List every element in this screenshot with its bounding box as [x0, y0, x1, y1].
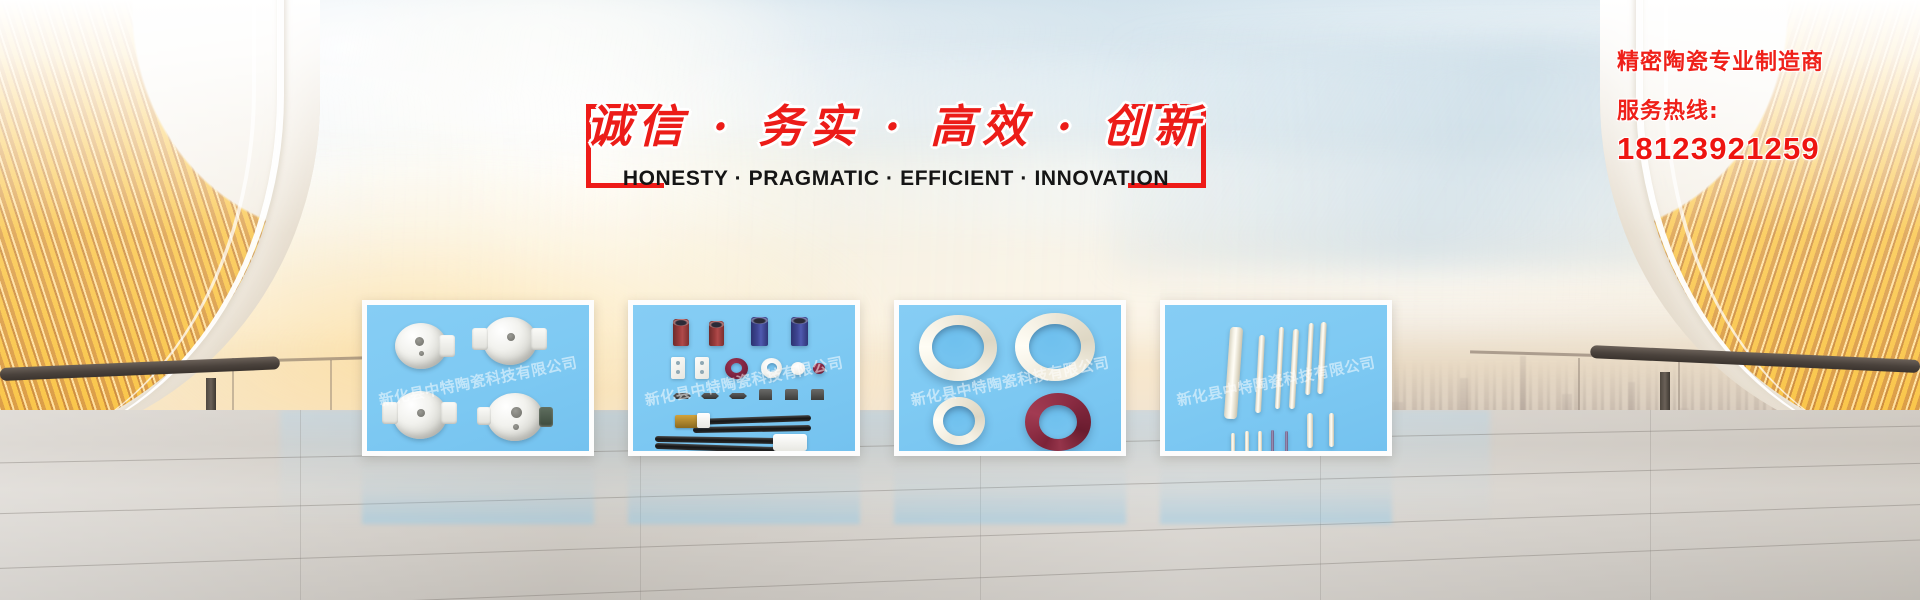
product-photo-lamp-holders: 新化县中特陶瓷科技有限公司 [367, 305, 589, 451]
product-photo-tubes-wires: 新化县中特陶瓷科技有限公司 [633, 305, 855, 451]
card-reflection [1160, 462, 1392, 524]
hotline-number[interactable]: 18123921259 [1617, 131, 1824, 167]
company-tagline: 精密陶瓷专业制造商 [1617, 50, 1824, 76]
product-card[interactable]: 新化县中特陶瓷科技有限公司 [362, 300, 594, 456]
card-reflection [362, 462, 594, 524]
slogan-block: 诚信 · 务实 · 高效 · 创新 HONESTY · PRAGMATIC · … [586, 104, 1206, 206]
product-card-row: 新化县中特陶瓷科技有限公司 [362, 300, 1392, 456]
card-reflection [894, 462, 1126, 524]
product-photo-rings: 新化县中特陶瓷科技有限公司 [899, 305, 1121, 451]
slogan-chinese: 诚信 · 务实 · 高效 · 创新 [586, 90, 1206, 155]
product-photo-rods: 新化县中特陶瓷科技有限公司 [1165, 305, 1387, 451]
card-reflection [628, 462, 860, 524]
product-card[interactable]: 新化县中特陶瓷科技有限公司 [1160, 300, 1392, 456]
contact-block: 精密陶瓷专业制造商 服务热线: 18123921259 [1617, 50, 1824, 167]
hotline-label: 服务热线: [1617, 93, 1824, 125]
promo-banner: 诚信 · 务实 · 高效 · 创新 HONESTY · PRAGMATIC · … [0, 0, 1920, 600]
slogan-english: HONESTY · PRAGMATIC · EFFICIENT · INNOVA… [586, 167, 1206, 191]
product-card[interactable]: 新化县中特陶瓷科技有限公司 [628, 300, 860, 456]
product-card[interactable]: 新化县中特陶瓷科技有限公司 [894, 300, 1126, 456]
